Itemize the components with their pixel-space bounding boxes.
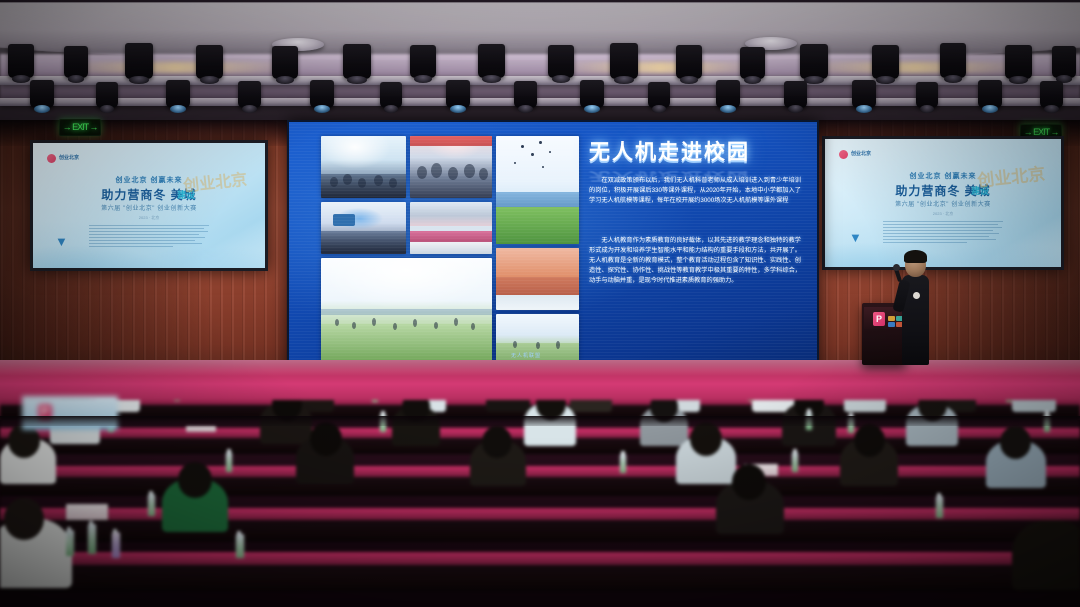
stage-light <box>784 81 807 108</box>
collage-photo-sports-field <box>496 248 579 310</box>
stage-light <box>238 81 261 108</box>
stage-light <box>96 82 118 108</box>
stage-light <box>978 80 1002 108</box>
audience-person-head <box>310 422 342 456</box>
audience-person <box>1012 520 1080 590</box>
warm-cove-light-center <box>560 62 760 73</box>
water-bottle <box>792 452 798 472</box>
side-screen-date: 2023 · 北京 <box>33 215 265 221</box>
stage-light <box>64 46 88 78</box>
stage-light <box>196 45 223 79</box>
stage-light <box>716 80 740 108</box>
main-screen-title: 无人机走进校园 <box>589 136 750 166</box>
side-screen-subtitle: 第六届 "创业北京" 创业创新大赛 <box>33 203 265 212</box>
water-bottle <box>936 496 943 518</box>
stage-light <box>478 44 505 78</box>
main-led-screen: 无人机走进校园 无人机走进校园 在双减政策颁布以后，我们无人机科普老师从成人培训… <box>287 120 819 376</box>
side-screen-skier-graphic: ▼ <box>849 231 862 244</box>
audience-person-head <box>1000 426 1031 459</box>
conference-hall-photo: → EXIT → → EXIT → 创业北京 创业北京 创赢未来 助力营商冬 美… <box>0 0 1080 607</box>
stage-light <box>343 44 371 79</box>
warm-cove-light-right <box>800 62 1030 73</box>
stage-light <box>310 80 334 108</box>
speaker-hair <box>904 250 927 263</box>
audience-person <box>486 400 530 412</box>
audience-person-head <box>854 424 885 457</box>
speaker-badge <box>913 292 920 299</box>
stage-light <box>446 80 470 108</box>
side-screen-subtitle: 第六届 "创业北京" 创业创新大赛 <box>825 199 1061 208</box>
collage-photo-school-assembly <box>321 202 406 254</box>
main-screen-paragraph-1: 在双减政策颁布以后，我们无人机科普老师从成人培训进入到青少年培训的岗位，积极开展… <box>589 176 801 206</box>
desk-nameplate <box>66 504 108 520</box>
water-bottle <box>148 494 155 516</box>
stage-light <box>940 43 966 78</box>
water-bottle <box>226 452 232 472</box>
collage-photo-drone-flight <box>496 136 579 244</box>
podium-color-swatch <box>888 322 895 327</box>
side-screen-logo-text: 创业北京 <box>59 154 79 161</box>
audience-desk-row <box>0 466 1080 496</box>
audience-person-head <box>178 462 212 498</box>
stage-light <box>548 45 574 78</box>
audience-person-head <box>4 498 44 540</box>
stage-light <box>676 45 702 79</box>
side-screen-logo-mark <box>47 154 56 163</box>
water-bottle <box>88 524 96 554</box>
microphone-head <box>893 264 900 271</box>
water-bottle <box>372 400 378 402</box>
ceiling-lighting-rig <box>0 0 1080 126</box>
side-screen-logo-text: 创业北京 <box>851 150 871 157</box>
collage-photo-running-track <box>410 202 492 254</box>
water-bottle <box>112 532 120 558</box>
podium-logo: P <box>873 312 885 326</box>
stage-light <box>380 82 402 108</box>
stage-light <box>800 44 828 79</box>
audience-person-head <box>690 422 722 456</box>
stage-light <box>1040 81 1063 108</box>
main-screen-caption: 无人机联盟 <box>511 352 541 359</box>
side-projection-screen-left: 创业北京 创业北京 创赢未来 助力营商冬 美城 建设 第六届 "创业北京" 创业… <box>30 140 268 271</box>
stage-light <box>410 45 436 78</box>
stage-light <box>610 43 638 79</box>
stage-light <box>852 80 876 108</box>
exit-sign-label: → EXIT → <box>63 123 98 132</box>
side-screen-logo-mark <box>839 150 848 159</box>
side-screen-date: 2023 · 北京 <box>825 211 1061 217</box>
collage-photo-crowd-event <box>410 136 492 198</box>
main-screen-paragraph-2: 无人机教育作为素质教育的良好载体，以其先进的教学理念和独特的教学形式成为开发和培… <box>589 236 801 286</box>
collage-photo-classroom-students <box>321 136 406 198</box>
stage-light <box>272 46 298 79</box>
stage-front-edge <box>0 416 1080 426</box>
water-bottle <box>620 454 626 473</box>
stage-light <box>872 45 899 79</box>
water-bottle <box>1006 400 1012 402</box>
side-screen-skier-graphic: ▼ <box>55 235 68 248</box>
exit-sign-left: → EXIT → <box>59 119 101 136</box>
collage-photo-grass-field-wide <box>321 258 492 364</box>
stage-light <box>648 82 670 108</box>
side-screen-text-lines <box>89 225 209 247</box>
stage-light <box>30 80 54 108</box>
audience-person <box>844 400 886 412</box>
side-projection-screen-right: 创业北京 创业北京 创赢未来 助力营商冬 美城 建设 第六届 "创业北京" 创业… <box>822 136 1064 270</box>
photo-collage <box>321 136 579 364</box>
stage-light <box>1052 46 1076 78</box>
stage-light <box>8 44 34 78</box>
water-bottle <box>236 534 244 558</box>
water-bottle <box>66 530 74 556</box>
audience-seating <box>0 400 1080 607</box>
stage-light <box>740 47 765 79</box>
audience-person <box>1012 400 1056 412</box>
stage-light <box>580 80 604 108</box>
side-screen-text-lines <box>883 221 1003 243</box>
water-bottle <box>174 400 180 401</box>
stage-light <box>916 82 938 108</box>
audience-desk-row <box>0 552 1080 592</box>
desk-paper <box>186 426 216 432</box>
audience-person-head <box>482 426 512 458</box>
water-bottle <box>748 400 754 401</box>
ceiling-soffit <box>0 2 1080 60</box>
stage-light <box>125 43 153 79</box>
podium-color-swatch <box>888 316 895 321</box>
stage-light <box>514 81 537 108</box>
audience-person-head <box>732 464 766 500</box>
audience-person <box>570 400 612 412</box>
stage-light <box>1005 45 1032 79</box>
stage-light <box>166 80 190 108</box>
warm-cove-light-left <box>60 62 290 73</box>
